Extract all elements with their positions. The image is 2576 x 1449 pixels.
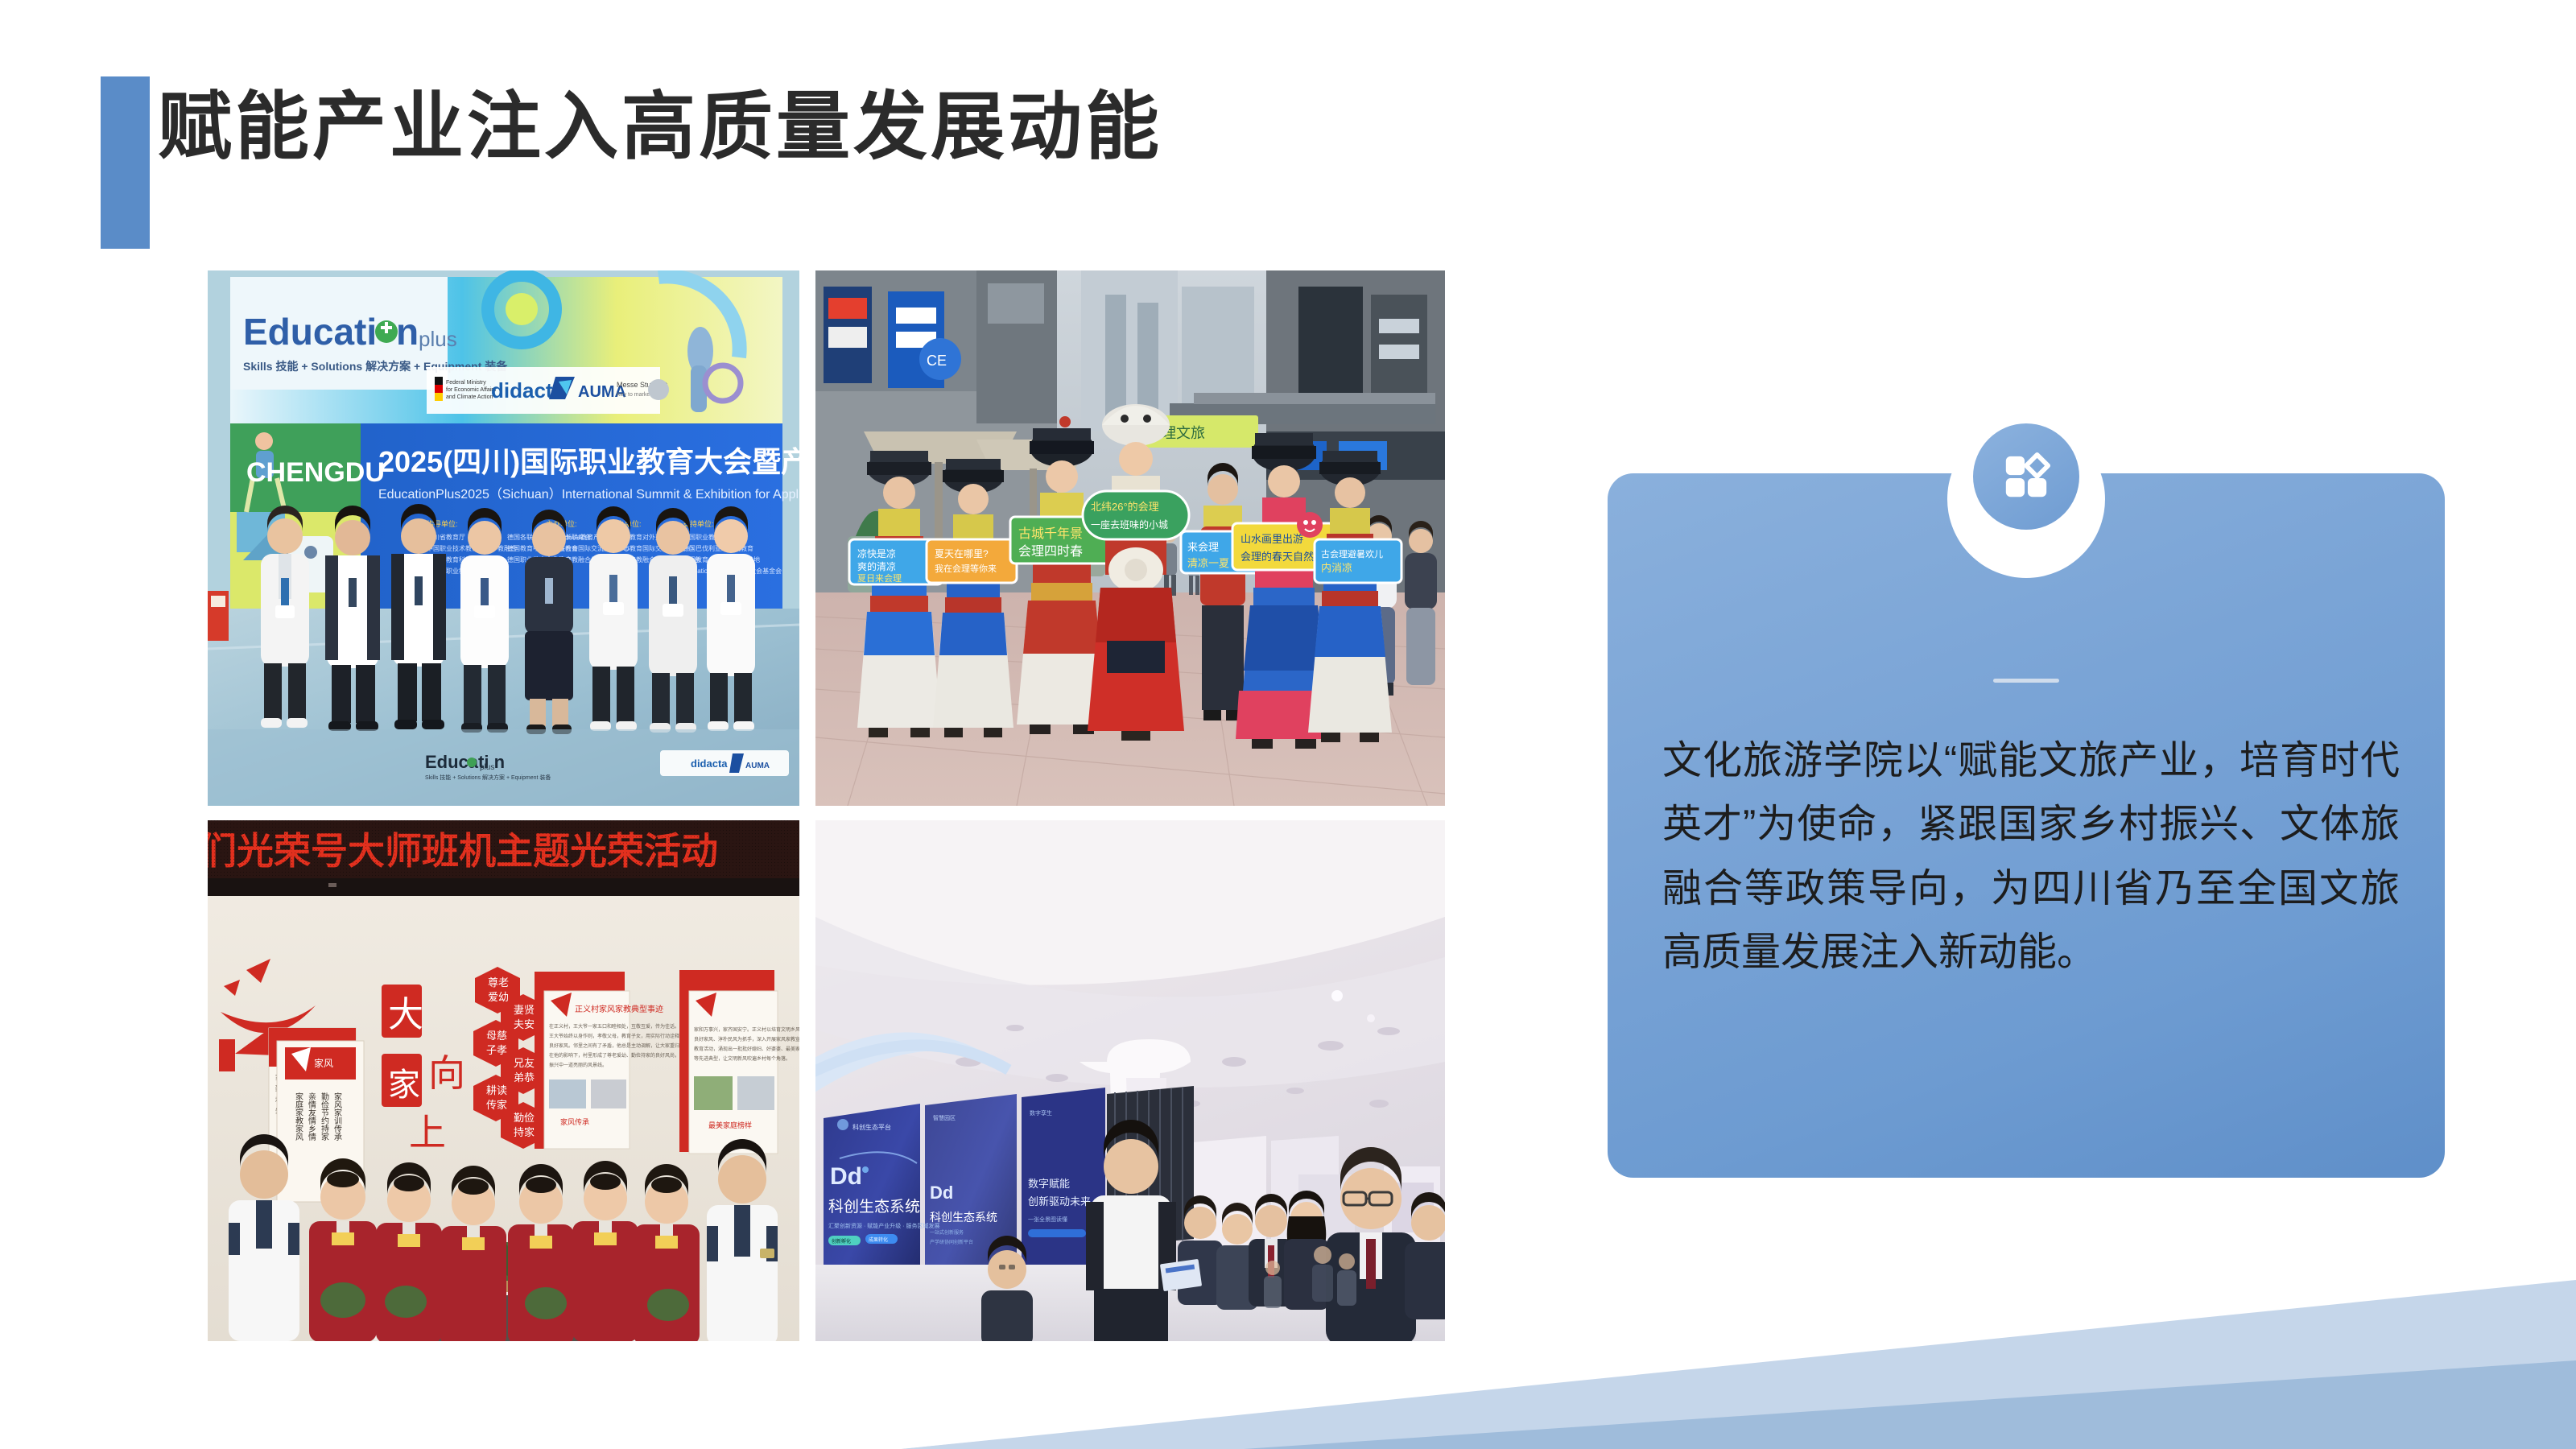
diagonal-band-accent: [1244, 1360, 2576, 1449]
svg-text:会理四时春: 会理四时春: [1018, 544, 1083, 559]
svg-text:爽的清凉: 爽的清凉: [857, 560, 896, 572]
svg-text:来会理: 来会理: [1187, 541, 1219, 553]
svg-text:母慈: 母慈: [486, 1030, 507, 1042]
info-card-body: 文化旅游学院以“赋能文旅产业，培育时代英才”为使命，紧跟国家乡村振兴、文体旅融合…: [1662, 729, 2400, 985]
svg-text:数字赋能: 数字赋能: [1028, 1178, 1070, 1190]
svg-text:创新孵化: 创新孵化: [832, 1238, 851, 1245]
svg-text:兄友: 兄友: [514, 1057, 535, 1069]
svg-text:科创生态系统: 科创生态系统: [828, 1198, 920, 1216]
svg-text:2025(四川)国际职业教育大会暨产教融合博览会: 2025(四川)国际职业教育大会暨产教融合博览会: [378, 445, 799, 478]
svg-text:Educati: Educati: [243, 311, 377, 353]
svg-text:良好家风。邻里之间有了矛盾，他总是主动调解，让大家重归于好。: 良好家风。邻里之间有了矛盾，他总是主动调解，让大家重归于好。: [549, 1042, 694, 1049]
svg-text:CHENGDU: CHENGDU: [246, 457, 385, 488]
svg-text:智慧园区: 智慧园区: [933, 1114, 956, 1121]
svg-text:家: 家: [388, 1067, 420, 1103]
svg-text:一站式创新服务: 一站式创新服务: [930, 1229, 964, 1236]
diagonal-band-dark-lower: [1256, 1368, 2576, 1449]
grid-diamond-icon: [1973, 423, 2079, 530]
title-accent-bar: [101, 76, 150, 249]
svg-text:耕读: 耕读: [486, 1084, 507, 1096]
svg-text:and Climate Action: and Climate Action: [446, 394, 493, 400]
svg-text:for Economic Affairs: for Economic Affairs: [446, 387, 497, 393]
svg-text:didacta: didacta: [691, 758, 728, 770]
svg-text:正义村家风家教典型事迹: 正义村家风家教典型事迹: [575, 1004, 663, 1014]
svg-text:创新驱动未来: 创新驱动未来: [1028, 1195, 1091, 1207]
svg-text:亲情友情乡情: 亲情友情乡情: [307, 1092, 316, 1141]
svg-text:教育活动，涌现出一批批好媳妇、好婆婆、最美家庭: 教育活动，涌现出一批批好媳妇、好婆婆、最美家庭: [694, 1046, 799, 1052]
svg-text:古城千年景: 古城千年景: [1018, 526, 1083, 541]
svg-text:家和万事兴，家齐国安宁。正义村以培育文明乡风、: 家和万事兴，家齐国安宁。正义村以培育文明乡风、: [694, 1026, 799, 1033]
svg-text:勤俭节约持家: 勤俭节约持家: [320, 1092, 329, 1141]
svg-text:爱幼: 爱幼: [488, 991, 509, 1003]
svg-text:Skills 技能 + Solutions 解决方案 + E: Skills 技能 + Solutions 解决方案 + Equipment 装…: [425, 774, 551, 781]
svg-text:古会理避暑欢儿: 古会理避暑欢儿: [1321, 548, 1383, 559]
svg-text:北纬26°的会理: 北纬26°的会理: [1091, 501, 1159, 513]
svg-text:夏天在哪里?: 夏天在哪里?: [935, 548, 989, 559]
svg-text:凉快是凉: 凉快是凉: [857, 547, 896, 559]
svg-text:产学研协同创新平台: 产学研协同创新平台: [930, 1239, 973, 1245]
svg-text:在他的影响下，村里形成了尊老爱幼、勤俭持家的良好风尚，成为乡: 在他的影响下，村里形成了尊老爱幼、勤俭持家的良好风尚，成为乡村: [549, 1052, 699, 1059]
svg-text:勤俭: 勤俭: [514, 1112, 535, 1124]
svg-text:夏日来会理: 夏日来会理: [857, 573, 902, 584]
svg-text:传家: 传家: [486, 1099, 507, 1111]
photo-grid: Educati n plus Skills 技能 + Solutions 解决方…: [208, 270, 1445, 1341]
svg-text:汇聚创新资源 · 赋能产业升级 · 服务区域发展: 汇聚创新资源 · 赋能产业升级 · 服务区域发展: [828, 1222, 939, 1229]
svg-text:数字孪生: 数字孪生: [1030, 1109, 1052, 1117]
svg-text:Federal Ministry: Federal Ministry: [446, 380, 486, 386]
svg-text:plus: plus: [480, 763, 494, 772]
svg-text:EducationPlus2025（Sichuan）Inte: EducationPlus2025（Sichuan）International …: [378, 487, 799, 502]
svg-text:向: 向: [428, 1053, 465, 1094]
svg-text:尊老: 尊老: [488, 976, 509, 989]
svg-text:妻贤: 妻贤: [514, 1004, 535, 1016]
page-title: 赋能产业注入高质量发展动能: [158, 84, 1162, 171]
svg-text:我在会理等你来: 我在会理等你来: [935, 563, 997, 574]
svg-text:等先进典型，让文明新风吹遍乡村每个角落。: 等先进典型，让文明新风吹遍乡村每个角落。: [694, 1055, 791, 1062]
svg-text:清凉一夏: 清凉一夏: [1187, 557, 1229, 569]
svg-text:山水画里出游: 山水画里出游: [1241, 533, 1303, 545]
svg-text:大: 大: [388, 995, 423, 1034]
svg-text:王大爷始终以身作则，孝敬父母，教育子女，用实际行动诠释了什么: 王大爷始终以身作则，孝敬父母，教育子女，用实际行动诠释了什么是: [549, 1033, 699, 1039]
svg-text:一座去班味的小城: 一座去班味的小城: [1091, 518, 1168, 530]
svg-text:子孝: 子孝: [486, 1044, 507, 1056]
info-card: 文化旅游学院以“赋能文旅产业，培育时代英才”为使命，紧跟国家乡村振兴、文体旅融合…: [1608, 473, 2445, 1178]
family-culture-wall-photo: 们光荣号大师班机主题光荣活动 正义村家风 家风家训 传承美德勤俭持家 尊老爱幼 …: [208, 820, 799, 1341]
svg-text:Dd: Dd: [830, 1163, 862, 1190]
svg-text:振兴中一道亮丽的风景线。: 振兴中一道亮丽的风景线。: [549, 1062, 607, 1068]
svg-text:内消凉: 内消凉: [1321, 562, 1352, 574]
svg-text:plus: plus: [419, 327, 457, 351]
svg-text:成果转化: 成果转化: [869, 1236, 888, 1243]
slide-header: 赋能产业注入高质量发展动能: [0, 0, 1610, 266]
svg-text:家风传承: 家风传承: [560, 1117, 589, 1126]
svg-text:n: n: [396, 311, 419, 353]
svg-text:夫安: 夫安: [514, 1018, 535, 1030]
svg-text:科创生态系统: 科创生态系统: [930, 1211, 997, 1224]
svg-text:科创生态平台: 科创生态平台: [852, 1123, 891, 1131]
svg-text:上: 上: [409, 1113, 446, 1154]
svg-text:持家: 持家: [514, 1126, 535, 1138]
svg-text:家庭家教家风: 家庭家教家风: [294, 1092, 303, 1141]
svg-text:最美家庭榜样: 最美家庭榜样: [708, 1121, 752, 1129]
svg-text:一张全景图读懂: 一张全景图读懂: [1028, 1216, 1067, 1223]
innovation-exhibition-hall-photo: 科创生态平台 Dd 科创生态系统 汇聚创新资源 · 赋能产业升级 · 服务区域发…: [815, 820, 1445, 1341]
svg-text:CE: CE: [927, 353, 947, 369]
svg-text:AUMA: AUMA: [745, 762, 770, 770]
svg-text:弟恭: 弟恭: [514, 1071, 535, 1084]
svg-text:Dd: Dd: [930, 1183, 953, 1203]
ethnic-costume-parade-photo: CE 会理文旅: [815, 270, 1445, 806]
card-divider: [1993, 679, 2059, 683]
svg-text:家风: 家风: [314, 1057, 333, 1069]
education-plus-expo-photo: Educati n plus Skills 技能 + Solutions 解决方…: [208, 270, 799, 806]
svg-text:家风家训传承: 家风家训传承: [332, 1092, 342, 1141]
svg-text:在正义村，王大爷一家五口和睦相处，互敬互爱，传为佳话。多年来: 在正义村，王大爷一家五口和睦相处，互敬互爱，传为佳话。多年来，: [549, 1023, 699, 1030]
svg-text:良好家风、淳朴民风为抓手，深入开展家风家教宣传: 良好家风、淳朴民风为抓手，深入开展家风家教宣传: [694, 1036, 799, 1042]
